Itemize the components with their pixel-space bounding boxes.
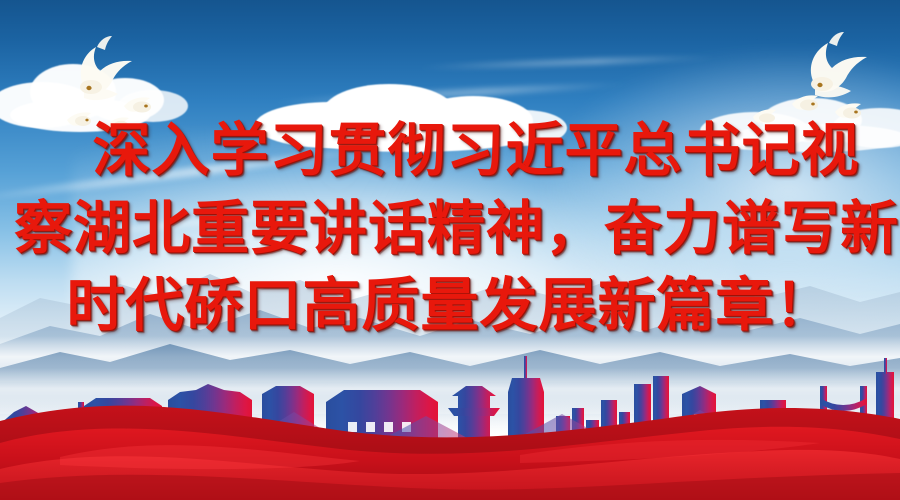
headline-line-1: 深入学习贯彻习近平总书记视 bbox=[14, 112, 886, 190]
headline-line-3: 时代硚口高质量发展新篇章！ bbox=[14, 267, 886, 345]
propaganda-banner: 深入学习贯彻习近平总书记视 察湖北重要讲话精神，奋力谱写新 时代硚口高质量发展新… bbox=[0, 0, 900, 500]
headline-block: 深入学习贯彻习近平总书记视 察湖北重要讲话精神，奋力谱写新 时代硚口高质量发展新… bbox=[0, 112, 900, 345]
red-silk-ribbon bbox=[0, 385, 900, 500]
headline-line-2: 察湖北重要讲话精神，奋力谱写新 bbox=[14, 190, 886, 268]
